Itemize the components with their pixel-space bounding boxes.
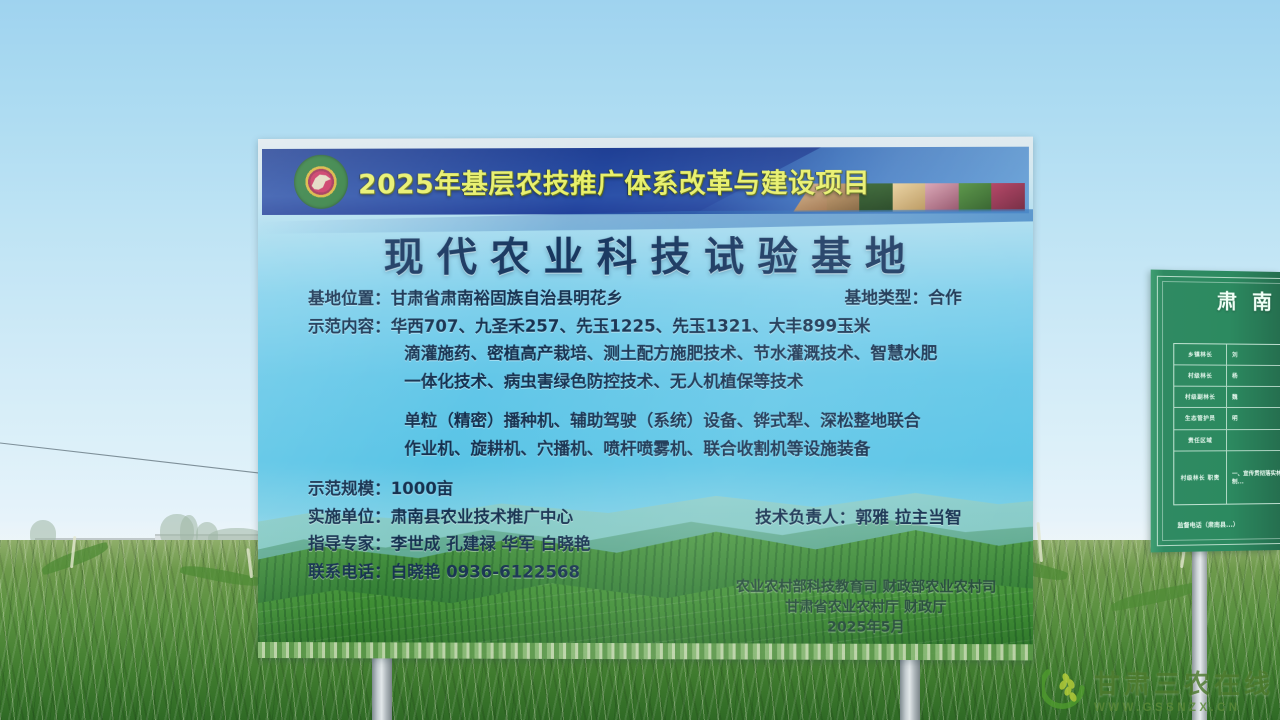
- sign-banner: 2025年基层农技推广体系改革与建设项目: [262, 147, 1029, 215]
- page-title: 现代农业科技试验基地: [258, 223, 1033, 283]
- experts-label: 指导专家：: [308, 530, 391, 558]
- content-line-text: 作业机、旋耕机、穴播机、喷杆喷雾机、联合收割机等设施装备: [404, 435, 870, 463]
- content-line: 滴灌施药、密植高产栽培、测土配方施肥技术、节水灌溉技术、智慧水肥: [308, 339, 1004, 367]
- row-label: 乡镇林长: [1174, 344, 1227, 365]
- banner-title: 2025年基层农技推广体系改革与建设项目: [358, 161, 870, 201]
- illustration-foreground-strip: [258, 642, 1033, 660]
- main-sign-post-left: [372, 648, 392, 720]
- row-value: 明: [1227, 408, 1280, 428]
- field-row-location: 基地位置： 甘肃省肃南裕固族自治县明花乡 基地类型：合作: [308, 284, 1004, 312]
- scale-label: 示范规模：: [308, 475, 391, 503]
- unit-value: 肃南县农业技术推广中心: [391, 503, 573, 531]
- row-value: [1227, 429, 1280, 449]
- phone-label: 联系电话：: [308, 558, 391, 586]
- row-value: 魏: [1227, 387, 1280, 407]
- field-row-experts: 指导专家： 李世成 孔建禄 华军 白晓艳: [308, 530, 1004, 559]
- row-label: 村级副林长: [1174, 387, 1227, 407]
- content-line-text: 单粒（精密）播种机、辅助驾驶（系统）设备、铧式犁、深松整地联合: [404, 407, 920, 435]
- location-label: 基地位置：: [308, 285, 391, 313]
- content-line: 单粒（精密）播种机、辅助驾驶（系统）设备、铧式犁、深松整地联合: [308, 407, 1004, 435]
- main-signboard: 2025年基层农技推广体系改革与建设项目 现代农业科技试验基地 基地位置： 甘肃…: [258, 137, 1033, 661]
- table-row: 村级副林长 魏: [1174, 387, 1280, 408]
- row-value: 杨: [1227, 366, 1280, 386]
- green-sign-post: [1192, 548, 1207, 720]
- table-row: 村级林长 职责 一、宣传贯彻落实林长制...: [1174, 451, 1280, 505]
- green-forest-warden-sign: 肃 南 乡镇林长 刘 村级林长 杨 村级副林长 魏 生态管护员 明 责任区域: [1151, 270, 1280, 553]
- table-row: 乡镇林长 刘: [1174, 344, 1280, 366]
- field-row-unit: 实施单位： 肃南县农业技术推广中心 技术负责人：郭雅 拉主当智: [308, 503, 1004, 532]
- content-line: 作业机、旋耕机、穴播机、喷杆喷雾机、联合收割机等设施装备: [308, 435, 1004, 463]
- photo-scene: 肃 南 乡镇林长 刘 村级林长 杨 村级副林长 魏 生态管护员 明 责任区域: [0, 0, 1280, 720]
- table-row: 村级林长 杨: [1174, 365, 1280, 387]
- phone-value: 白晓艳 0936-6122568: [391, 558, 580, 586]
- tech-lead-pair: 技术负责人：郭雅 拉主当智: [755, 503, 1004, 531]
- type-label: 基地类型：: [844, 288, 928, 307]
- table-row: 生态管护员 明: [1174, 408, 1280, 429]
- green-sign-footer: 监督电话（肃南县...）: [1177, 520, 1239, 530]
- content-label: 示范内容：: [308, 312, 391, 340]
- row-label: 责任区域: [1174, 430, 1227, 451]
- footer-line-2: 甘肃省农业农村厅 财政厅: [736, 597, 997, 618]
- content-line-text: 滴灌施药、密植高产栽培、测土配方施肥技术、节水灌溉技术、智慧水肥: [404, 340, 937, 368]
- green-sign-table: 乡镇林长 刘 村级林长 杨 村级副林长 魏 生态管护员 明 责任区域 村级林长 …: [1173, 343, 1280, 505]
- field-row-scale: 示范规模： 1000亩: [308, 475, 1004, 503]
- row-label: 生态管护员: [1174, 408, 1227, 428]
- field-row-content: 示范内容： 华西707、九圣禾257、先玉1225、先玉1321、大丰899玉米: [308, 312, 1004, 340]
- content-line: 一体化技术、病虫害绿色防控技术、无人机植保等技术: [308, 367, 1004, 395]
- green-sign-title: 肃 南: [1217, 285, 1276, 315]
- china-agri-tech-extension-emblem-icon: [294, 155, 348, 209]
- tech-lead-label: 技术负责人：: [755, 507, 855, 526]
- tech-lead-value: 郭雅 拉主当智: [855, 507, 961, 526]
- table-row: 责任区域: [1174, 429, 1280, 451]
- location-value: 甘肃省肃南裕固族自治县明花乡: [391, 285, 623, 313]
- content-value: 华西707、九圣禾257、先玉1225、先玉1321、大丰899玉米: [391, 312, 871, 340]
- unit-label: 实施单位：: [308, 503, 391, 531]
- footer-line-3: 2025年5月: [736, 617, 997, 638]
- scale-value: 1000亩: [391, 475, 454, 503]
- experts-value: 李世成 孔建禄 华军 白晓艳: [391, 530, 591, 558]
- content-line-text: 一体化技术、病虫害绿色防控技术、无人机植保等技术: [404, 367, 803, 395]
- row-label: 村级林长 职责: [1174, 451, 1227, 504]
- type-value: 合作: [928, 288, 962, 307]
- row-value: 刘: [1227, 345, 1280, 366]
- row-label: 村级林长: [1174, 365, 1227, 386]
- field-row-phone: 联系电话： 白晓艳 0936-6122568: [308, 558, 1004, 587]
- type-pair: 基地类型：合作: [844, 284, 1004, 312]
- row-value: 一、宣传贯彻落实林长制...: [1227, 451, 1280, 504]
- sign-body-text: 基地位置： 甘肃省肃南裕固族自治县明花乡 基地类型：合作 示范内容： 华西707…: [308, 284, 1004, 587]
